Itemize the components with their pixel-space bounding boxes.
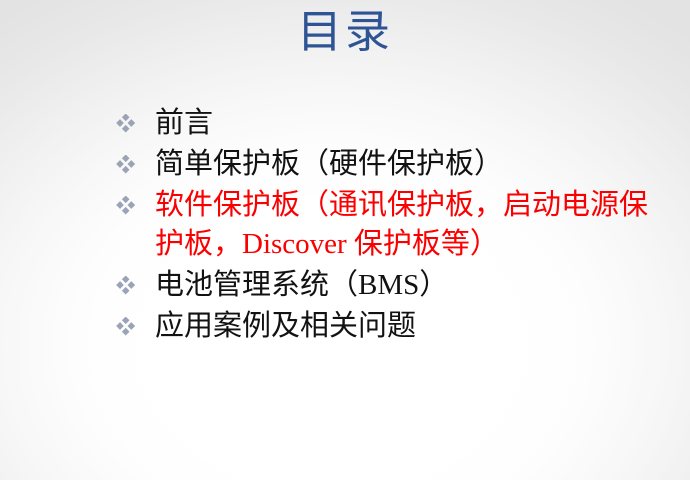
four-diamond-bullet-icon	[116, 145, 142, 174]
list-item[interactable]: 软件保护板（通讯保护板，启动电源保护板，Discover 保护板等）	[116, 186, 656, 264]
four-diamond-bullet-icon	[116, 104, 142, 133]
list-item-label: 简单保护板（硬件保护板）	[142, 145, 656, 184]
list-item-label: 前言	[142, 104, 656, 143]
list-item[interactable]: 前言	[116, 104, 656, 143]
list-item[interactable]: 简单保护板（硬件保护板）	[116, 145, 656, 184]
four-diamond-bullet-icon	[116, 186, 142, 215]
list-item[interactable]: 应用案例及相关问题	[116, 307, 656, 346]
list-item-label: 应用案例及相关问题	[142, 307, 656, 346]
list-item-label: 软件保护板（通讯保护板，启动电源保护板，Discover 保护板等）	[142, 186, 656, 264]
list-item-label: 电池管理系统（BMS）	[142, 266, 656, 305]
page-title: 目录	[0, 6, 690, 58]
list-item[interactable]: 电池管理系统（BMS）	[116, 266, 656, 305]
presentation-slide: 目录 前言	[0, 0, 690, 480]
table-of-contents-list: 前言 简单保护板（硬件保护板）	[116, 104, 656, 348]
four-diamond-bullet-icon	[116, 307, 142, 336]
four-diamond-bullet-icon	[116, 266, 142, 295]
